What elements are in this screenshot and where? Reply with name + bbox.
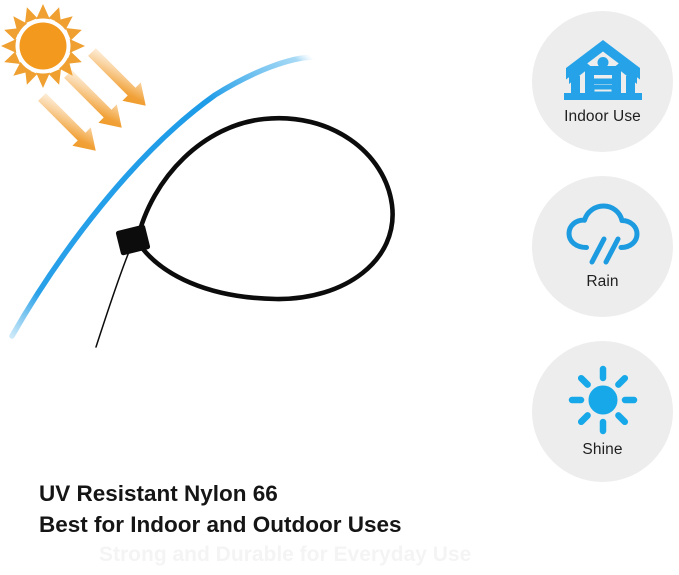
product-feature-graphic: Indoor Use Rain xyxy=(0,0,679,575)
sun-shine-icon xyxy=(568,365,638,435)
feature-badge-indoor[interactable]: Indoor Use xyxy=(532,11,673,152)
feature-badge-shine[interactable]: Shine xyxy=(532,341,673,482)
caption-block: UV Resistant Nylon 66 Best for Indoor an… xyxy=(39,478,499,570)
caption-line-1: UV Resistant Nylon 66 xyxy=(39,478,499,509)
uv-resistance-illustration xyxy=(0,0,510,470)
cable-tie-loop xyxy=(96,118,393,347)
caption-line-2: Best for Indoor and Outdoor Uses xyxy=(39,509,499,540)
feature-badge-label-indoor: Indoor Use xyxy=(564,108,641,126)
uv-protection-arc xyxy=(12,57,312,336)
house-icon xyxy=(561,38,645,102)
feature-badge-label-rain: Rain xyxy=(586,273,618,291)
rain-cloud-icon xyxy=(564,203,642,267)
feature-badge-rain[interactable]: Rain xyxy=(532,176,673,317)
feature-badge-label-shine: Shine xyxy=(582,441,622,459)
caption-line-3-clipped: Strong and Durable for Everyday Use xyxy=(99,540,499,570)
